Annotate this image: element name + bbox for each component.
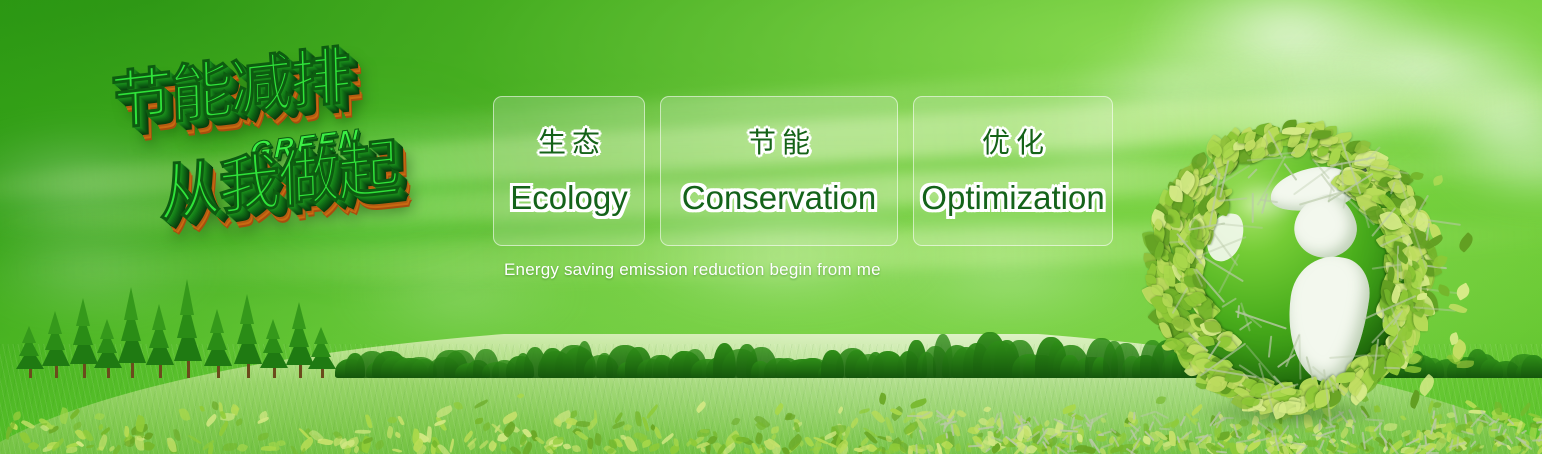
leaf bbox=[877, 392, 887, 405]
feature-card-optimization[interactable]: 优化 Optimization bbox=[913, 96, 1113, 246]
leaf bbox=[448, 439, 455, 453]
leaf bbox=[886, 435, 892, 441]
twig bbox=[1098, 433, 1104, 435]
leaf bbox=[187, 434, 201, 446]
ivy-leaf-falling bbox=[1404, 364, 1421, 375]
leaf bbox=[4, 426, 11, 439]
leaf bbox=[859, 408, 871, 414]
leaf bbox=[674, 438, 679, 446]
leaf bbox=[220, 411, 226, 419]
leaf bbox=[373, 440, 384, 451]
leaf bbox=[1478, 445, 1484, 449]
leaf bbox=[50, 438, 65, 452]
pine-tree-icon bbox=[240, 294, 254, 324]
card-cn-label: 优化 bbox=[976, 129, 1050, 157]
twig bbox=[946, 433, 948, 439]
pine-tree-icon bbox=[210, 309, 224, 333]
card-cn-label: 生态 bbox=[532, 129, 606, 157]
leaf bbox=[385, 425, 395, 439]
leaf bbox=[199, 405, 204, 412]
leaf bbox=[386, 414, 397, 425]
leaf bbox=[491, 422, 504, 434]
feature-card-list: 生态 Ecology 节能 Conservation 优化 Optimizati… bbox=[493, 96, 1113, 246]
leaf bbox=[1101, 418, 1106, 424]
leaf bbox=[562, 442, 571, 450]
pine-tree-icon bbox=[76, 298, 90, 326]
pine-tree-icon bbox=[292, 302, 306, 329]
leaf bbox=[218, 421, 231, 437]
leaf bbox=[237, 442, 248, 453]
leaf bbox=[1494, 402, 1503, 415]
leaf bbox=[871, 408, 885, 424]
leaf bbox=[94, 411, 105, 421]
leaf bbox=[66, 447, 77, 453]
leaf bbox=[572, 445, 581, 453]
leaf bbox=[694, 400, 707, 413]
card-en-label: Ecology bbox=[510, 181, 627, 214]
leaf bbox=[474, 399, 489, 409]
leaf bbox=[475, 418, 483, 424]
leaf bbox=[436, 406, 455, 419]
leaf bbox=[909, 398, 927, 409]
leaf bbox=[392, 448, 402, 454]
leaf bbox=[744, 448, 750, 454]
leaf bbox=[881, 447, 886, 454]
leaf bbox=[697, 429, 710, 437]
leaf bbox=[21, 419, 36, 431]
twig bbox=[1033, 416, 1040, 426]
twig bbox=[1294, 433, 1299, 438]
leaf bbox=[482, 422, 492, 432]
leaf bbox=[223, 442, 237, 451]
leaf bbox=[86, 445, 94, 449]
leaf bbox=[235, 418, 243, 426]
feature-card-ecology[interactable]: 生态 Ecology bbox=[493, 96, 645, 246]
pine-tree-icon bbox=[152, 304, 166, 330]
leaf bbox=[645, 404, 660, 419]
pine-tree-icon bbox=[266, 319, 280, 339]
leaf bbox=[454, 401, 464, 411]
leaf bbox=[1491, 444, 1497, 451]
pine-tree-icon bbox=[180, 279, 194, 315]
leaf bbox=[649, 443, 662, 453]
leaf bbox=[770, 433, 777, 440]
leaf bbox=[569, 410, 578, 418]
leaf bbox=[69, 409, 81, 420]
logo-3d-text: 节能减排 GREEN 从我做起 bbox=[96, 34, 496, 269]
leaf bbox=[642, 416, 650, 432]
card-cn-label: 节能 bbox=[742, 129, 816, 157]
feature-card-conservation[interactable]: 节能 Conservation bbox=[660, 96, 898, 246]
leaf bbox=[394, 431, 402, 438]
leaf bbox=[256, 416, 269, 424]
ivy-vine bbox=[1252, 193, 1254, 223]
leaf bbox=[956, 409, 966, 419]
leaf bbox=[355, 430, 371, 435]
leaf bbox=[144, 431, 154, 441]
leaf bbox=[1474, 421, 1485, 434]
pine-tree-icon bbox=[314, 327, 328, 344]
twig bbox=[1060, 429, 1078, 432]
pine-tree-icon bbox=[100, 319, 114, 339]
leaf bbox=[290, 445, 300, 454]
leaf bbox=[257, 433, 268, 441]
card-en-label: Conservation bbox=[682, 181, 876, 214]
leaf bbox=[204, 413, 219, 427]
tagline: Energy saving emission reduction begin f… bbox=[504, 260, 881, 280]
leaf bbox=[365, 414, 372, 429]
leaf bbox=[773, 402, 785, 415]
tree-blob bbox=[1521, 355, 1542, 378]
eco-banner: 节能减排 GREEN 从我做起 生态 Ecology 节能 Conservati… bbox=[0, 0, 1542, 454]
leaf bbox=[953, 443, 961, 451]
pine-tree-icon bbox=[48, 311, 62, 334]
leaf bbox=[636, 412, 642, 427]
leaf bbox=[58, 408, 69, 425]
leaf bbox=[1043, 420, 1051, 428]
leaf bbox=[730, 416, 740, 427]
pine-tree-icon bbox=[22, 326, 36, 343]
leaf bbox=[594, 433, 603, 446]
leaf bbox=[82, 428, 94, 442]
earth-globe bbox=[1148, 130, 1438, 430]
leaf bbox=[500, 443, 508, 452]
leaf bbox=[12, 411, 22, 421]
leaf bbox=[517, 392, 525, 400]
leaf bbox=[1510, 445, 1521, 453]
leaf bbox=[535, 437, 544, 446]
leaf bbox=[397, 416, 404, 426]
leaf bbox=[179, 407, 191, 422]
leaf bbox=[594, 410, 597, 423]
card-en-label: Optimization bbox=[921, 181, 1104, 214]
leaf bbox=[771, 426, 780, 433]
twig bbox=[907, 415, 922, 417]
leaf bbox=[966, 443, 974, 453]
leaf bbox=[1168, 431, 1175, 446]
pine-tree-icon bbox=[124, 287, 138, 320]
leaf bbox=[837, 406, 844, 414]
leaf bbox=[983, 404, 992, 413]
